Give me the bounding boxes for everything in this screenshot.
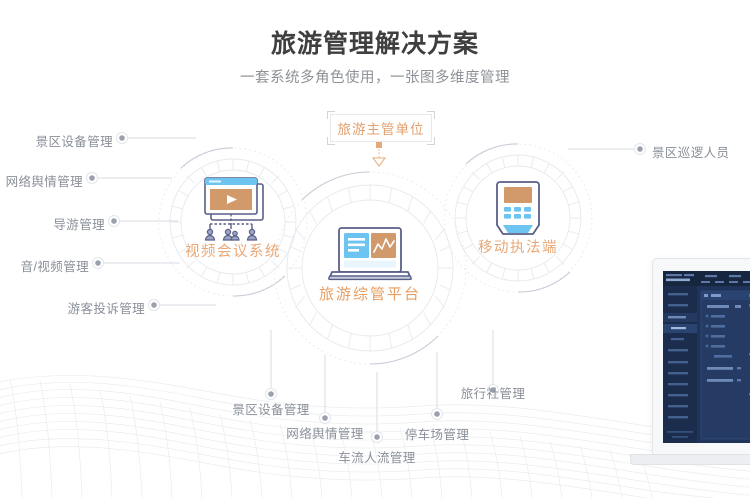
leaf-left-tourist-complaint[interactable]: 游客投诉管理: [0, 298, 145, 317]
badge-corner-top-left: [327, 111, 335, 119]
leaf-bottom-network-opinion[interactable]: 网络舆情管理: [279, 423, 371, 442]
badge-label: 旅游主管单位: [338, 118, 425, 138]
laptop-body: [652, 258, 750, 456]
laptop-screen-dashboard: [663, 271, 750, 443]
mobile-device-icon: [497, 182, 539, 234]
video-window-icon: [205, 178, 263, 240]
left-leaf-connectors: [98, 138, 216, 305]
node-label-video-conference[interactable]: 视频会议系统: [163, 240, 303, 261]
infographic-stage: 旅游管理解决方案 一套系统多角色使用，一张图多维度管理: [0, 0, 750, 498]
leaf-bottom-scenic-equipment[interactable]: 景区设备管理: [225, 399, 317, 418]
badge-corner-bottom-left: [327, 137, 335, 145]
laptop-dashboard-icon: [329, 228, 411, 279]
laptop-device-mock: [652, 258, 750, 474]
ring-right-node: [444, 144, 592, 292]
leaf-left-scenic-equipment[interactable]: 景区设备管理: [0, 131, 113, 150]
leaf-left-guide-management[interactable]: 导游管理: [0, 214, 105, 233]
laptop-base: [630, 454, 750, 465]
ring-left-node: [159, 148, 307, 296]
leaf-right-scenic-patrol[interactable]: 景区巡逻人员: [652, 142, 729, 161]
page-title: 旅游管理解决方案: [0, 24, 750, 60]
leaf-left-av-management[interactable]: 音/视频管理: [0, 256, 89, 275]
leaf-bottom-travel-agency[interactable]: 旅行社管理: [447, 383, 539, 402]
leaf-left-network-opinion[interactable]: 网络舆情管理: [0, 171, 83, 190]
node-label-mobile-enforcement[interactable]: 移动执法端: [458, 236, 578, 257]
node-label-tourism-platform[interactable]: 旅游综管平台: [300, 283, 440, 304]
badge-corner-top-right: [427, 111, 435, 119]
badge-arrow-connector: [373, 142, 385, 166]
leaf-bottom-parking[interactable]: 停车场管理: [391, 424, 483, 443]
leaf-bottom-traffic-flow[interactable]: 车流人流管理: [331, 447, 423, 466]
badge-corner-bottom-right: [427, 137, 435, 145]
page-subtitle: 一套系统多角色使用，一张图多维度管理: [0, 66, 750, 87]
badge-authority[interactable]: 旅游主管单位: [330, 114, 432, 142]
ring-center-node: [274, 172, 466, 364]
dashboard-mock-graphic: [663, 271, 750, 443]
